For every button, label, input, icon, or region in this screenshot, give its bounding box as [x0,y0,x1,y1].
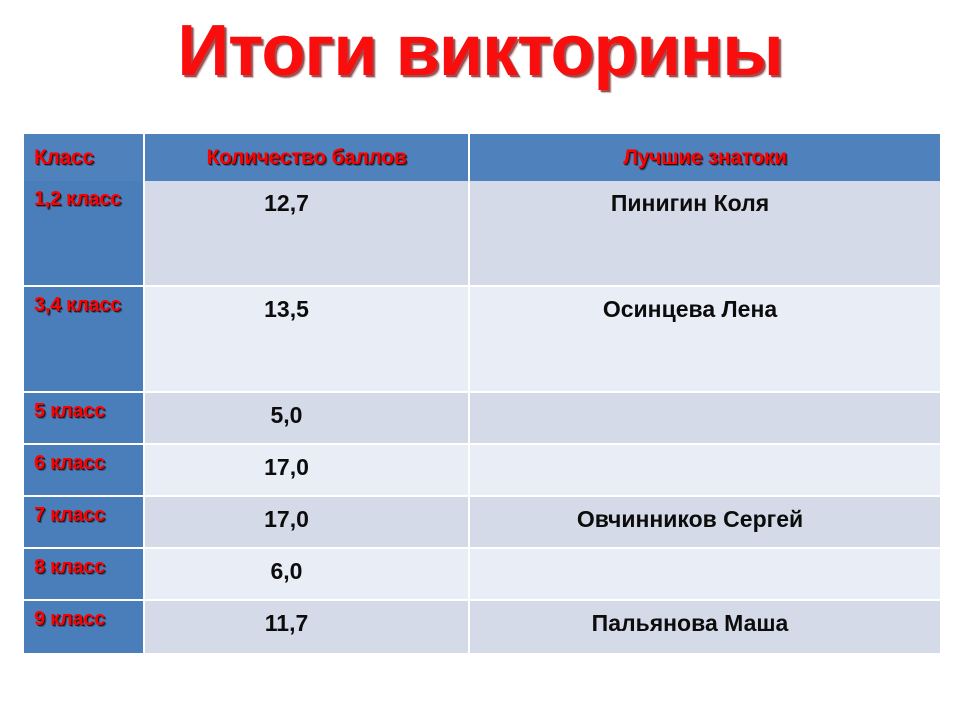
cell-expert: Пинигин Коля [470,181,940,287]
score-value: 11,7 [145,601,468,637]
column-header-score[interactable]: Количество баллов [145,134,470,181]
score-value: 5,0 [145,393,468,429]
table-row: 9 класс 11,7 Пальянова Маша [24,601,940,653]
cell-expert: Осинцева Лена [470,287,940,393]
cell-expert: Пальянова Маша [470,601,940,653]
cell-score: 17,0 [145,497,470,549]
class-label: 6 класс [24,445,143,475]
score-value: 6,0 [145,549,468,585]
class-label: 9 класс [24,601,143,631]
cell-score: 5,0 [145,393,470,445]
table-row: 6 класс 17,0 [24,445,940,497]
cell-score: 11,7 [145,601,470,653]
expert-name: Осинцева Лена [470,287,940,323]
cell-expert [470,393,940,445]
cell-score: 12,7 [145,181,470,287]
quiz-results-table: Класс Количество баллов Лучшие знатоки 1… [24,134,940,653]
class-label: 1,2 класс [24,181,143,211]
cell-score: 17,0 [145,445,470,497]
expert-name: Пинигин Коля [470,181,940,217]
expert-name [470,393,940,402]
expert-name: Овчинников Сергей [470,497,940,533]
score-value: 17,0 [145,497,468,533]
cell-class: 3,4 класс [24,287,145,393]
cell-class: 6 класс [24,445,145,497]
class-label: 5 класс [24,393,143,423]
table-row: 7 класс 17,0 Овчинников Сергей [24,497,940,549]
cell-expert [470,445,940,497]
table-body: 1,2 класс 12,7 Пинигин Коля 3,4 класс 13… [24,181,940,653]
table-row: 8 класс 6,0 [24,549,940,601]
slide-root: Итоги викторины Класс Количество баллов … [0,0,960,720]
cell-class: 1,2 класс [24,181,145,287]
table-row: 5 класс 5,0 [24,393,940,445]
column-header-expert[interactable]: Лучшие знатоки [470,134,940,181]
cell-expert [470,549,940,601]
expert-name: Пальянова Маша [470,601,940,637]
table-header-row: Класс Количество баллов Лучшие знатоки [24,134,940,181]
expert-name [470,549,940,558]
class-label: 3,4 класс [24,287,143,317]
cell-class: 5 класс [24,393,145,445]
table-header: Класс Количество баллов Лучшие знатоки [24,134,940,181]
class-label: 7 класс [24,497,143,527]
cell-score: 6,0 [145,549,470,601]
table-row: 1,2 класс 12,7 Пинигин Коля [24,181,940,287]
cell-class: 8 класс [24,549,145,601]
expert-name [470,445,940,454]
score-value: 12,7 [145,181,468,217]
cell-class: 7 класс [24,497,145,549]
cell-score: 13,5 [145,287,470,393]
class-label: 8 класс [24,549,143,579]
table-row: 3,4 класс 13,5 Осинцева Лена [24,287,940,393]
page-title: Итоги викторины [0,14,960,90]
cell-expert: Овчинников Сергей [470,497,940,549]
score-value: 13,5 [145,287,468,323]
column-header-class[interactable]: Класс [24,134,145,181]
cell-class: 9 класс [24,601,145,653]
score-value: 17,0 [145,445,468,481]
